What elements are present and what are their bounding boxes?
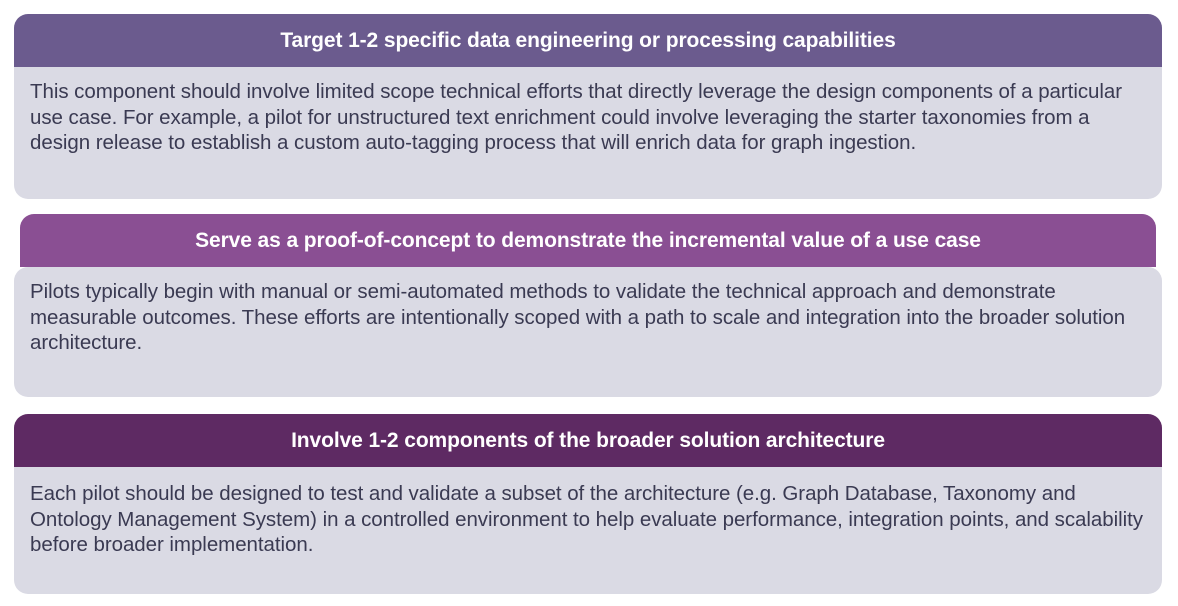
card-body-solution-architecture: Each pilot should be designed to test an…	[14, 467, 1162, 594]
card-solution-architecture: Involve 1-2 components of the broader so…	[14, 414, 1162, 594]
card-proof-of-concept: Serve as a proof-of-concept to demonstra…	[14, 214, 1162, 397]
pilot-criteria-card-list: Target 1-2 specific data engineering or …	[0, 0, 1178, 606]
card-body-proof-of-concept: Pilots typically begin with manual or se…	[14, 267, 1162, 397]
card-header-solution-architecture: Involve 1-2 components of the broader so…	[14, 414, 1162, 467]
card-body-target-capabilities: This component should involve limited sc…	[14, 67, 1162, 199]
card-target-capabilities: Target 1-2 specific data engineering or …	[14, 14, 1162, 199]
card-header-proof-of-concept: Serve as a proof-of-concept to demonstra…	[20, 214, 1156, 267]
card-header-target-capabilities: Target 1-2 specific data engineering or …	[14, 14, 1162, 67]
